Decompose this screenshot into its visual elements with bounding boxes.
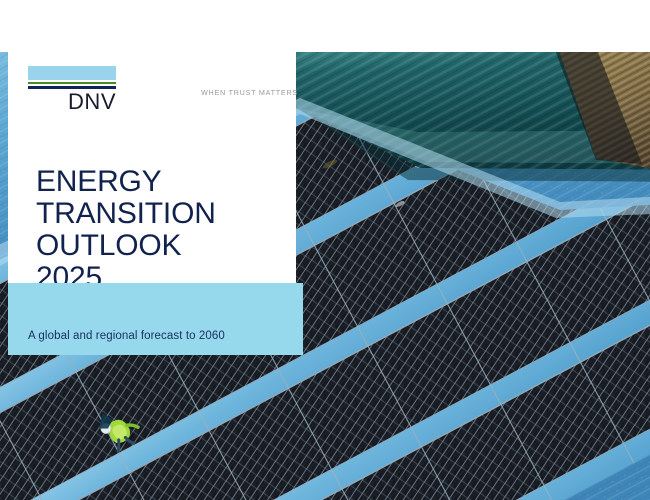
title-line-1: ENERGY xyxy=(36,166,216,198)
dnv-logo: DNV xyxy=(28,66,116,113)
title-line-2: TRANSITION xyxy=(36,198,216,230)
logo-wordmark: DNV xyxy=(28,90,116,113)
subtitle-band: A global and regional forecast to 2060 xyxy=(8,283,303,355)
brand-tagline: WHEN TRUST MATTERS xyxy=(201,88,298,97)
logo-blue-bar xyxy=(28,66,116,80)
title-line-3: OUTLOOK xyxy=(36,230,216,262)
logo-green-rule xyxy=(28,82,116,84)
report-cover: DNV WHEN TRUST MATTERS ENERGY TRANSITION… xyxy=(0,0,650,500)
cover-subtitle: A global and regional forecast to 2060 xyxy=(28,330,225,342)
cover-text-panel: DNV WHEN TRUST MATTERS ENERGY TRANSITION… xyxy=(8,0,296,283)
page-title: ENERGY TRANSITION OUTLOOK 2025 xyxy=(36,166,216,294)
